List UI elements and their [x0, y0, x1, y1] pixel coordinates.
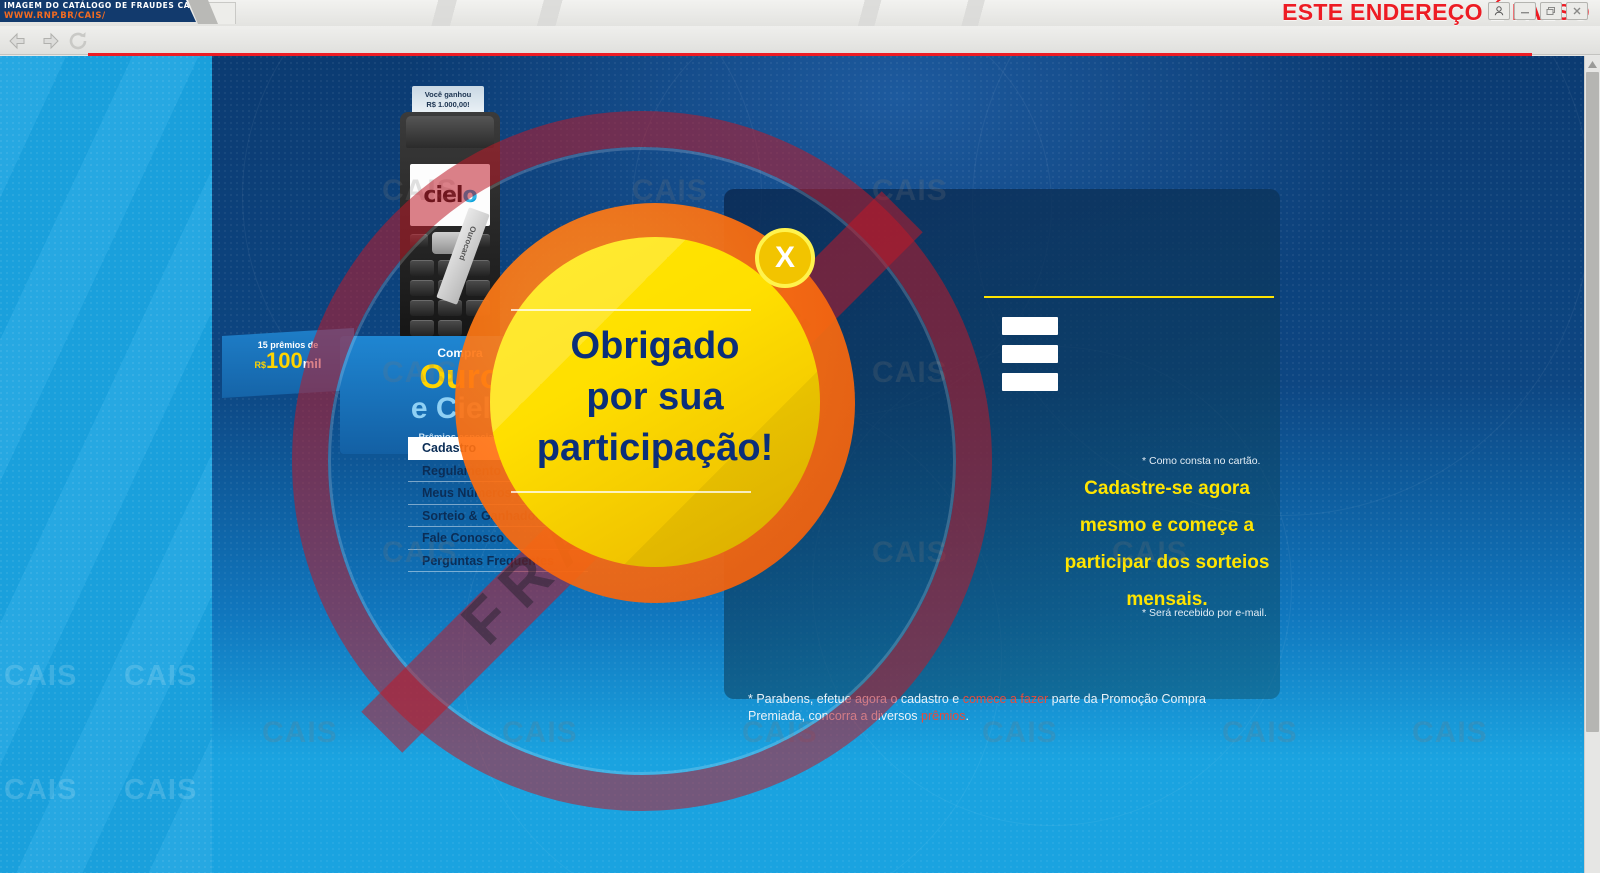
vertical-scrollbar[interactable] — [1584, 56, 1600, 873]
chevron-texture — [0, 56, 212, 873]
reload-icon[interactable] — [66, 29, 92, 53]
prize-ribbon-left: 15 prêmios de R$100mil — [222, 328, 354, 398]
cais-watermark: CAIS — [872, 536, 948, 570]
close-icon[interactable]: X — [755, 228, 815, 288]
receipt-line1: Você ganhou — [412, 90, 484, 100]
page-left-band: CAIS CAIS CAIS CAIS — [0, 56, 212, 873]
cais-watermark: CAIS — [262, 716, 338, 750]
scrollbar-up-arrow-icon[interactable] — [1585, 56, 1600, 72]
cais-watermark: CAIS — [982, 716, 1058, 750]
registration-field[interactable] — [1002, 345, 1058, 363]
cais-watermark: CAIS — [382, 536, 458, 570]
prize-value: 100 — [266, 348, 303, 373]
modal-divider-bottom — [511, 491, 751, 493]
minimize-icon[interactable] — [1514, 2, 1536, 20]
pos-printer — [406, 116, 494, 148]
modal-line1: Obrigado — [475, 321, 835, 372]
user-icon[interactable] — [1488, 2, 1510, 20]
window-controls — [1488, 2, 1588, 20]
cais-watermark: CAIS — [502, 716, 578, 750]
prize-unit: mil — [303, 356, 322, 371]
cais-watermark: CAIS — [124, 660, 197, 693]
modal-line2: por sua — [475, 372, 835, 423]
note-card-text: * Como consta no cartão. — [1142, 455, 1260, 467]
cais-watermark: CAIS — [382, 356, 458, 390]
cais-watermark: CAIS — [382, 174, 458, 208]
navigation-buttons — [6, 29, 92, 53]
modal-message: Obrigado por sua participação! — [475, 321, 835, 474]
cta-line1: Cadastre-se agora — [1044, 470, 1290, 507]
thank-you-modal: Obrigado por sua participação! X — [455, 203, 855, 603]
footnote-highlight2: prêmios — [921, 709, 965, 723]
restore-icon[interactable] — [1540, 2, 1562, 20]
registration-field[interactable] — [1002, 373, 1058, 391]
browser-titlebar: IMAGEM DO CATÁLOGO DE FRAUDES CAIS/RNP W… — [0, 0, 1600, 26]
cais-watermark: CAIS — [872, 356, 948, 390]
cais-watermark: CAIS — [1412, 716, 1488, 750]
promo-site-background: Você ganhou R$ 1.000,00! cielo — [212, 56, 1584, 873]
footnote-end: . — [965, 709, 968, 723]
receipt-line2: R$ 1.000,00! — [412, 100, 484, 110]
back-icon[interactable] — [6, 29, 32, 53]
modal-line3: participação! — [475, 423, 835, 474]
cais-watermark: CAIS — [872, 174, 948, 208]
close-icon[interactable] — [1566, 2, 1588, 20]
page-viewport: CAIS CAIS CAIS CAIS Você ganhou R$ 1.000… — [0, 56, 1600, 873]
browser-tab-fraud-catalog[interactable]: IMAGEM DO CATÁLOGO DE FRAUDES CAIS/RNP W… — [0, 0, 196, 22]
scrollbar-thumb[interactable] — [1586, 72, 1599, 732]
cais-watermark: CAIS — [1222, 716, 1298, 750]
titlebar-decoration — [430, 0, 1430, 26]
footnote-pre: * Parabens, efetue agora o cadastro e — [748, 692, 963, 706]
cta-line4: mensais. — [1044, 581, 1290, 618]
browser-navbar: artisticmouldings.com/wp-admin/js/?aH.wo… — [0, 26, 1600, 55]
footnote-highlight: comece a fazer — [963, 692, 1048, 706]
panel-divider — [984, 296, 1274, 298]
tab-title-line1: IMAGEM DO CATÁLOGO DE FRAUDES CAIS/RNP — [4, 1, 196, 11]
registration-field[interactable] — [1002, 317, 1058, 335]
cais-watermark: CAIS — [4, 774, 77, 807]
cais-watermark: CAIS — [742, 716, 818, 750]
prize-currency: R$ — [254, 360, 266, 370]
cais-watermark: CAIS — [4, 660, 77, 693]
cais-watermark: CAIS — [1112, 536, 1188, 570]
forward-icon[interactable] — [36, 29, 62, 53]
tab-title-line2: WWW.RNP.BR/CAIS/ — [4, 11, 196, 21]
cais-watermark: CAIS — [124, 774, 197, 807]
modal-divider-top — [511, 309, 751, 311]
